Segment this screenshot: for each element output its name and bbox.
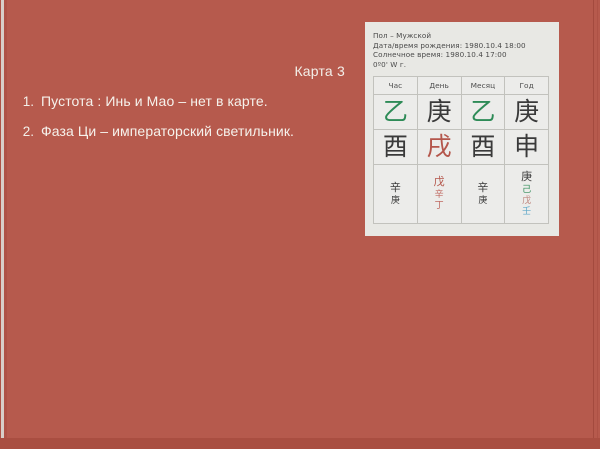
- hidden-stem-stack: 戊辛丁: [418, 176, 461, 211]
- hidden-stems-year: 庚己戊壬: [505, 165, 549, 224]
- branch-year: 申: [505, 130, 549, 165]
- hidden-stem-stack: 辛庚: [374, 182, 417, 206]
- hidden-stems-hour: 辛庚: [374, 165, 418, 224]
- hidden-stem-char: 丁: [435, 200, 444, 211]
- stem-month: 乙: [461, 95, 505, 130]
- hidden-stem-char: 戊: [522, 195, 531, 206]
- list-item-label: Фаза Ци – императорский светильник.: [34, 123, 294, 139]
- branch-day: 戌: [417, 130, 461, 165]
- column-header-month: Месяц: [461, 77, 505, 95]
- bullet-list: 1. Пустота : Инь и Мао – нет в карте. 2.…: [0, 93, 350, 153]
- bazi-pillars-table: Час День Месяц Год 乙 庚 乙 庚 酉 戌 酉 申: [373, 76, 549, 224]
- stem-day: 庚: [417, 95, 461, 130]
- list-item: 2. Фаза Ци – императорский светильник.: [0, 123, 350, 139]
- hidden-stem-char: 庚: [391, 195, 400, 206]
- hidden-stem-char: 庚: [478, 195, 487, 206]
- hidden-stem-char: 辛: [477, 182, 488, 195]
- hidden-stem-char: 戊: [434, 176, 445, 189]
- presentation-slide: Карта 3 1. Пустота : Инь и Мао – нет в к…: [0, 0, 600, 449]
- stem-year: 庚: [505, 95, 549, 130]
- list-item-number: 1.: [0, 94, 34, 109]
- branch-month: 酉: [461, 130, 505, 165]
- column-header-day: День: [417, 77, 461, 95]
- hidden-stem-char: 庚: [521, 171, 532, 184]
- birth-info-line-longitude: 0º0' W г.: [373, 60, 551, 70]
- bazi-chart-card: Пол – Мужской Дата/время рождения: 1980.…: [365, 22, 559, 236]
- hidden-stem-stack: 辛庚: [462, 182, 505, 206]
- birth-info-line-solar-time: Солнечное время: 1980.10.4 17:00: [373, 50, 551, 60]
- birth-info-line-birth-time: Дата/время рождения: 1980.10.4 18:00: [373, 41, 551, 51]
- column-header-hour: Час: [374, 77, 418, 95]
- table-row-heavenly-stems: 乙 庚 乙 庚: [374, 95, 549, 130]
- hidden-stem-stack: 庚己戊壬: [505, 171, 548, 217]
- hidden-stem-char: 壬: [522, 206, 531, 217]
- list-item-label: Пустота : Инь и Мао – нет в карте.: [34, 93, 268, 109]
- hidden-stem-char: 己: [522, 184, 531, 195]
- table-row-earthly-branches: 酉 戌 酉 申: [374, 130, 549, 165]
- list-item: 1. Пустота : Инь и Мао – нет в карте.: [0, 93, 350, 109]
- table-row-hidden-stems: 辛庚 戊辛丁 辛庚 庚己戊壬: [374, 165, 549, 224]
- stem-hour: 乙: [374, 95, 418, 130]
- column-header-year: Год: [505, 77, 549, 95]
- hidden-stem-char: 辛: [390, 182, 401, 195]
- slide-bottom-band: [0, 438, 600, 449]
- branch-hour: 酉: [374, 130, 418, 165]
- table-row-headers: Час День Месяц Год: [374, 77, 549, 95]
- slide-right-edge-rule: [593, 0, 594, 440]
- list-item-number: 2.: [0, 124, 34, 139]
- page-title: Карта 3: [0, 63, 345, 79]
- hidden-stem-char: 辛: [435, 189, 444, 200]
- slide-right-edge-rule-secondary: [597, 0, 598, 440]
- hidden-stems-month: 辛庚: [461, 165, 505, 224]
- birth-info-line-gender: Пол – Мужской: [373, 31, 551, 41]
- hidden-stems-day: 戊辛丁: [417, 165, 461, 224]
